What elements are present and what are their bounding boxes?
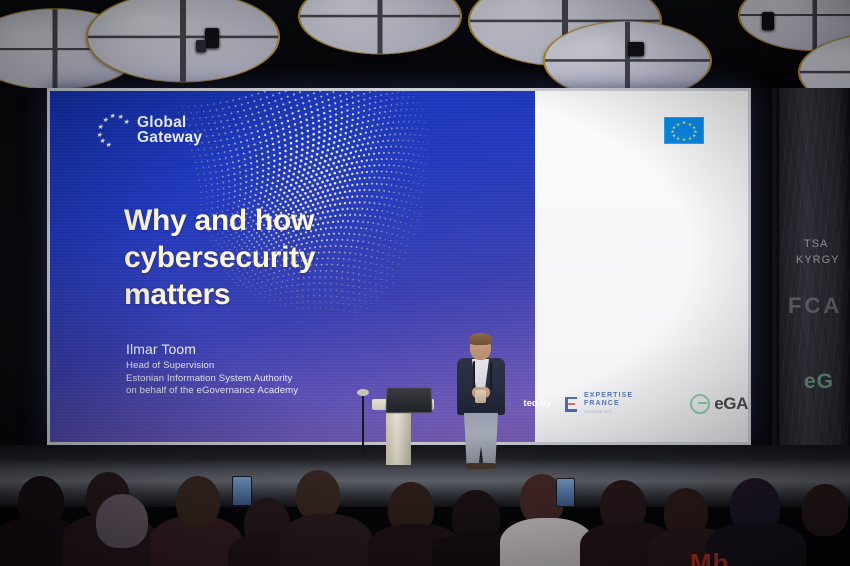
expertise-france-logo: EXPERTISE FRANCE GROUPE AFD — [565, 392, 666, 416]
ega-logo: eGA — [690, 394, 748, 414]
audience-member — [18, 476, 64, 528]
partner-logos: EXPERTISE FRANCE GROUPE AFD eGA — [565, 392, 748, 416]
brand-line-1: Global — [137, 115, 202, 130]
global-gateway-logo: ★ ★ ★ ★ ★ ★ ★ ★ Global Gateway — [96, 113, 202, 147]
speaker-block: Ilmar Toom Head of Supervision Estonian … — [126, 341, 298, 398]
slide-title-line-2: cybersecurity — [124, 240, 315, 277]
ceiling-light-rig — [628, 42, 644, 56]
expertise-france-icon — [565, 397, 579, 412]
slide-title: Why and how cybersecurity matters — [124, 203, 315, 314]
brand-line-2: Gateway — [137, 130, 202, 145]
side-wall-logo-text: FCA — [788, 293, 842, 319]
wall-pillar-edge — [770, 88, 779, 470]
bottom-banner-text: Mb — [690, 548, 730, 566]
audience-member — [296, 470, 340, 520]
side-wall-ega-logo: eG — [804, 370, 834, 394]
ceiling-ornament-disc — [300, 0, 460, 54]
side-wall-text-line1: TSA — [804, 238, 828, 250]
audience-member — [96, 494, 148, 548]
slide-title-line-3: matters — [124, 277, 315, 314]
audience-phone — [232, 476, 252, 506]
speaker-role: Head of Supervision — [126, 360, 298, 373]
badge — [475, 390, 486, 403]
implemented-by-label: ted by — [523, 398, 551, 409]
presenter — [452, 335, 510, 467]
speaker-on-behalf: on behalf of the eGovernance Academy — [126, 385, 298, 398]
venue-ceiling — [0, 0, 850, 92]
ega-circle-icon — [690, 394, 710, 414]
side-wall-text-line2: KYRGY — [796, 254, 840, 266]
ceiling-ornament-disc — [800, 34, 850, 92]
side-wall-banner: TSA KYRGY FCA eG — [770, 88, 850, 468]
ceiling-light-rig — [205, 28, 219, 48]
speaker-organisation: Estonian Information System Authority — [126, 373, 298, 386]
speaker-name: Ilmar Toom — [126, 341, 298, 357]
eu-stars-arc-icon: ★ ★ ★ ★ ★ ★ ★ ★ — [96, 113, 130, 147]
microphone-stand — [362, 395, 364, 455]
slide-right-panel: ★ ★ ★ ★ ★ ★ ★ ★ ★ ★ ★ ★ ted by — [535, 91, 748, 442]
ceiling-light-rig — [762, 12, 774, 30]
eu-flag-icon: ★ ★ ★ ★ ★ ★ ★ ★ ★ ★ ★ ★ — [664, 117, 704, 144]
conference-photo: TSA KYRGY FCA eG ★ ★ ★ ★ ★ ★ — [0, 0, 850, 566]
expertise-france-sub: GROUPE AFD — [584, 409, 666, 417]
audience-member — [176, 476, 220, 526]
audience-member — [802, 484, 848, 536]
ceiling-light-rig — [196, 40, 206, 52]
slide-title-line-1: Why and how — [124, 203, 315, 240]
ceiling-ornament-disc — [88, 0, 278, 82]
ega-name: eGA — [714, 394, 748, 414]
lanyard — [473, 361, 492, 389]
laptop — [385, 387, 432, 413]
expertise-france-name: EXPERTISE FRANCE — [584, 392, 666, 407]
audience-member — [280, 514, 372, 566]
ceiling-ornament-disc — [545, 22, 710, 92]
audience-phone — [556, 478, 575, 507]
